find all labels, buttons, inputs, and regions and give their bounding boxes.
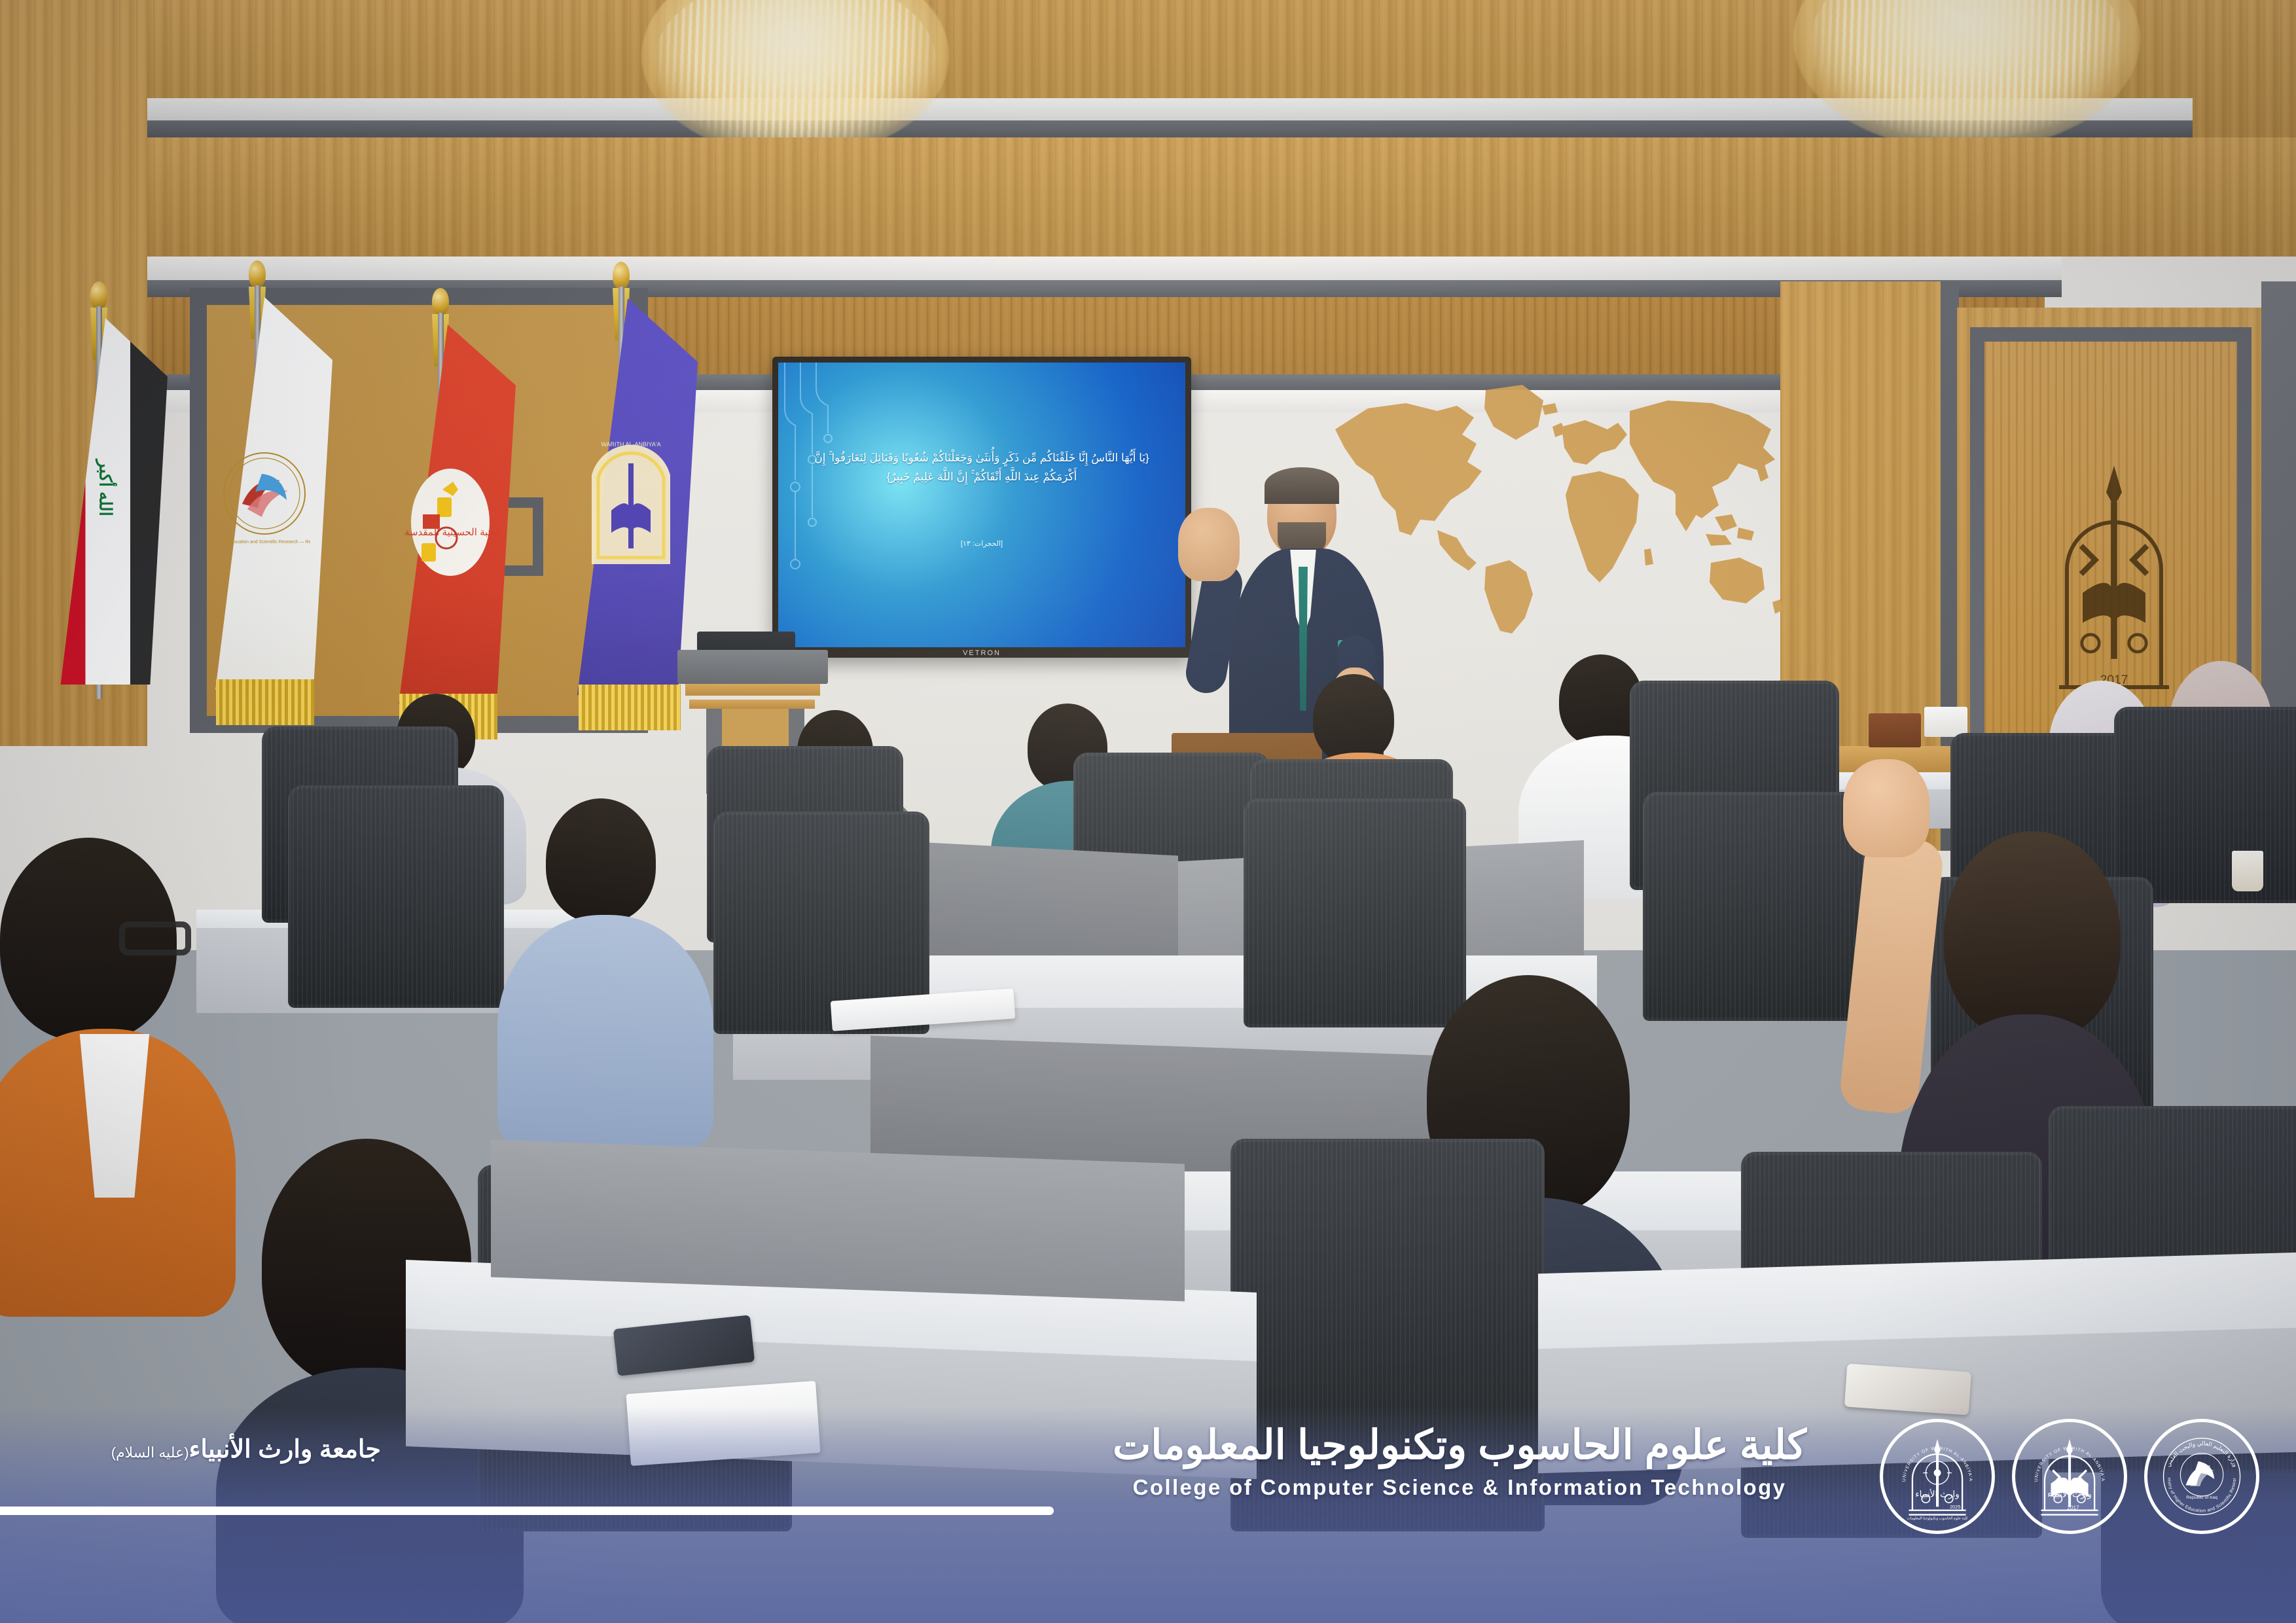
flag-finial-university xyxy=(613,262,630,289)
desk-divider-foreground xyxy=(491,1139,1185,1301)
student-head xyxy=(1313,674,1394,763)
podium-wood-trim-lower xyxy=(689,700,815,709)
flag-ministry-higher-education: Ministry of Higher Education and Scienti… xyxy=(190,260,340,712)
chair-row2-a[interactable] xyxy=(288,785,504,1008)
chandelier-left-crystals xyxy=(655,0,936,147)
student-body xyxy=(497,915,713,1150)
chair-front-b[interactable] xyxy=(1230,1139,1545,1531)
slide-circuit-decoration xyxy=(778,363,903,647)
flag-shrine-emblem: العتبة الحسينية المقدسة xyxy=(403,452,501,596)
slide-verse-reference: [الحجرات: ١٣] xyxy=(778,539,1185,548)
student-blueshirt xyxy=(497,798,720,1145)
flag-ministry-ring-text: Ministry of Higher Education and Scienti… xyxy=(219,540,310,544)
flag-fringe-ministry xyxy=(216,679,314,725)
photograph-canvas: 2017 xyxy=(0,0,2296,1623)
paper-cup-right xyxy=(2232,851,2263,891)
flag-finial-ministry xyxy=(249,260,266,288)
presenter-open-hand xyxy=(1178,508,1240,581)
podium-top-surface xyxy=(677,650,828,684)
flag-finial-shrine xyxy=(432,288,449,315)
flag-iraq-takbir: الله أكبر xyxy=(96,446,116,531)
student-orange-vest xyxy=(0,838,249,1322)
display-brand-label: VETRON xyxy=(963,649,1001,657)
upper-wood-wall xyxy=(0,137,2296,268)
student-glasses xyxy=(119,921,191,955)
presentation-display[interactable]: {يَا أَيُّهَا النَّاسُ إِنَّا خَلَقْنَاك… xyxy=(772,357,1191,658)
student-raised-hand xyxy=(1843,759,1929,857)
flag-iraq: الله أكبر xyxy=(39,281,177,700)
flag-university-emblem: WARITH AL-ANBIYA'A 2017 xyxy=(581,429,681,577)
lecture-hall-scene: 2017 xyxy=(0,0,2296,1623)
tissue-box xyxy=(1924,707,1967,737)
slide-quran-verse: {يَا أَيُّهَا النَّاسُ إِنَّا خَلَقْنَاك… xyxy=(802,448,1160,488)
pen-holder xyxy=(1869,713,1921,747)
notebook-on-desk[interactable] xyxy=(626,1381,821,1466)
podium-wood-trim-upper xyxy=(685,684,820,696)
flag-university-ring-text: WARITH AL-ANBIYA'A xyxy=(601,441,660,448)
flag-ministry-emblem: Ministry of Higher Education and Scienti… xyxy=(219,433,310,558)
flag-shrine-label: العتبة الحسينية المقدسة xyxy=(404,527,501,538)
flag-university-year: 2017 xyxy=(623,565,639,573)
flag-finial-iraq xyxy=(90,281,107,309)
student-head xyxy=(546,798,656,923)
phone-on-desk-right[interactable] xyxy=(1844,1363,1971,1415)
presenter-hair xyxy=(1265,467,1339,504)
display-screen-surface: {يَا أَيُّهَا النَّاسُ إِنَّا خَلَقْنَاك… xyxy=(778,363,1185,647)
flag-fringe-university xyxy=(579,685,681,730)
student-head xyxy=(1944,831,2121,1041)
flag-holy-shrine: العتبة الحسينية المقدسة xyxy=(373,288,524,720)
wall-trim-white-upper xyxy=(124,257,2062,280)
